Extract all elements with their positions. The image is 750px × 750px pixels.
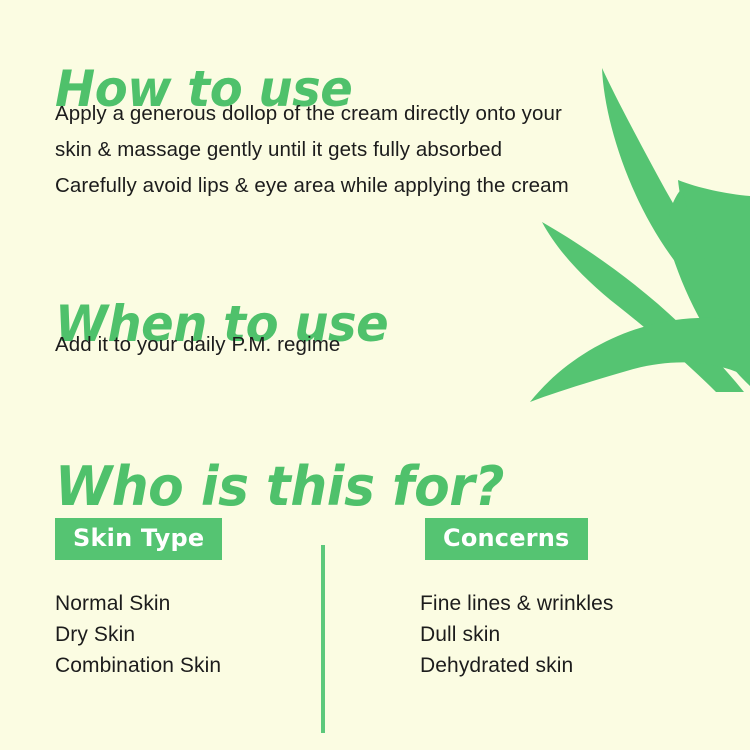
badge-skin-type: Skin Type: [55, 518, 222, 560]
leaf-cluster-icon: [530, 0, 750, 420]
how-to-use-line: Carefully avoid lips & eye area while ap…: [55, 168, 569, 204]
how-to-use-body: Apply a generous dollop of the cream dir…: [55, 96, 569, 204]
list-item: Normal Skin: [55, 588, 221, 619]
how-to-use-line: skin & massage gently until it gets full…: [55, 132, 569, 168]
column-divider: [321, 545, 325, 733]
list-item: Dry Skin: [55, 619, 221, 650]
list-skin-type: Normal Skin Dry Skin Combination Skin: [55, 588, 221, 681]
list-item: Dehydrated skin: [420, 650, 614, 681]
list-item: Dull skin: [420, 619, 614, 650]
list-concerns: Fine lines & wrinkles Dull skin Dehydrat…: [420, 588, 614, 681]
list-item: Combination Skin: [55, 650, 221, 681]
heading-who-is-this-for: Who is this for?: [55, 460, 504, 514]
list-item: Fine lines & wrinkles: [420, 588, 614, 619]
how-to-use-line: Apply a generous dollop of the cream dir…: [55, 96, 569, 132]
when-to-use-body: Add it to your daily P.M. regime: [55, 327, 340, 363]
when-to-use-line: Add it to your daily P.M. regime: [55, 327, 340, 363]
poster-canvas: How to use Apply a generous dollop of th…: [0, 0, 750, 750]
badge-concerns: Concerns: [425, 518, 588, 560]
